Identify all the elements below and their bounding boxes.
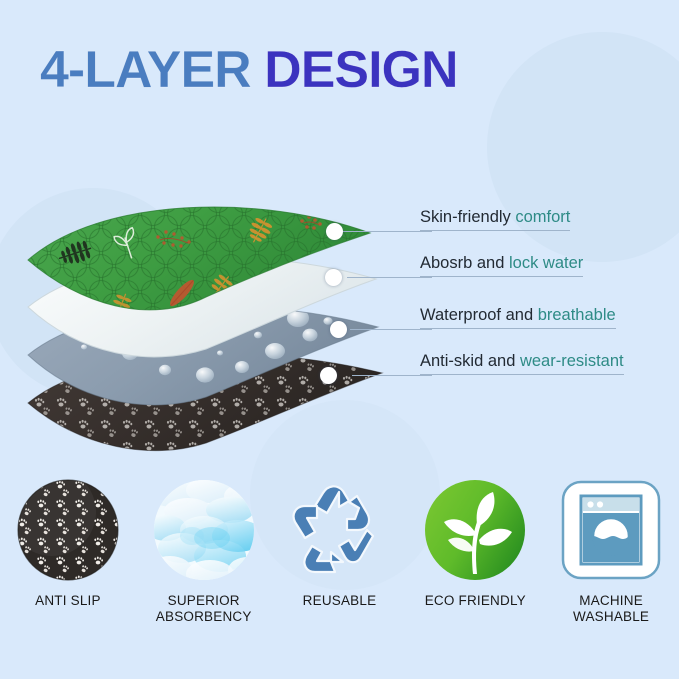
callout-0-rule bbox=[420, 230, 570, 231]
paw-print-fabric-icon bbox=[16, 478, 120, 582]
connector-dot-1 bbox=[325, 269, 342, 286]
callout-2-rule bbox=[420, 328, 616, 329]
feature-machine-washable: MACHINE WASHABLE bbox=[543, 478, 679, 625]
leader-line-3 bbox=[352, 375, 432, 376]
callout-0-lead: Skin-friendly bbox=[420, 208, 515, 226]
quilted-bubbles-icon bbox=[152, 478, 256, 582]
connector-dot-2 bbox=[330, 321, 347, 338]
callout-anti-skid-wear-resistant: Anti-skid and wear-resistant bbox=[420, 352, 624, 375]
callout-1-lead: Abosrb and bbox=[420, 254, 509, 272]
feature-label-eco-friendly: ECO FRIENDLY bbox=[425, 593, 526, 609]
callout-3-rule bbox=[420, 374, 624, 375]
callout-absorb-lock-water: Abosrb and lock water bbox=[420, 254, 583, 277]
recycle-icon bbox=[287, 478, 391, 582]
connector-dot-0 bbox=[326, 223, 343, 240]
callout-waterproof-breathable: Waterproof and breathable bbox=[420, 306, 616, 329]
feature-anti-slip: ANTI SLIP bbox=[0, 478, 136, 609]
title-part-two: DESIGN bbox=[264, 41, 457, 99]
leader-line-0 bbox=[337, 231, 432, 232]
feature-eco-friendly: ECO FRIENDLY bbox=[407, 478, 543, 609]
callout-skin-friendly: Skin-friendly comfort bbox=[420, 208, 570, 231]
layer-stack-illustration bbox=[10, 175, 430, 465]
callout-0-highlight: comfort bbox=[515, 208, 570, 226]
callout-2-highlight: breathable bbox=[538, 306, 616, 324]
feature-label-superior-absorbency: SUPERIOR ABSORBENCY bbox=[156, 593, 252, 625]
callout-1-highlight: lock water bbox=[509, 254, 583, 272]
feature-icon-row: ANTI SLIP bbox=[0, 478, 679, 653]
feature-label-machine-washable: MACHINE WASHABLE bbox=[573, 593, 649, 625]
feature-label-reusable: REUSABLE bbox=[303, 593, 377, 609]
callout-1-rule bbox=[420, 276, 583, 277]
feature-superior-absorbency: SUPERIOR ABSORBENCY bbox=[136, 478, 272, 625]
connector-dot-3 bbox=[320, 367, 337, 384]
page-title: 4-LAYER DESIGN bbox=[40, 44, 458, 96]
washing-machine-icon bbox=[559, 478, 663, 582]
leader-line-1 bbox=[347, 277, 432, 278]
callout-3-lead: Anti-skid and bbox=[420, 352, 520, 370]
leaf-plant-icon bbox=[423, 478, 527, 582]
leader-line-2 bbox=[350, 329, 432, 330]
callout-2-lead: Waterproof and bbox=[420, 306, 538, 324]
infographic-canvas: 4-LAYER DESIGN bbox=[0, 0, 679, 679]
feature-label-anti-slip: ANTI SLIP bbox=[35, 593, 101, 609]
callout-3-highlight: wear-resistant bbox=[520, 352, 624, 370]
title-part-one: 4-LAYER bbox=[40, 41, 251, 99]
feature-reusable: REUSABLE bbox=[272, 478, 408, 609]
